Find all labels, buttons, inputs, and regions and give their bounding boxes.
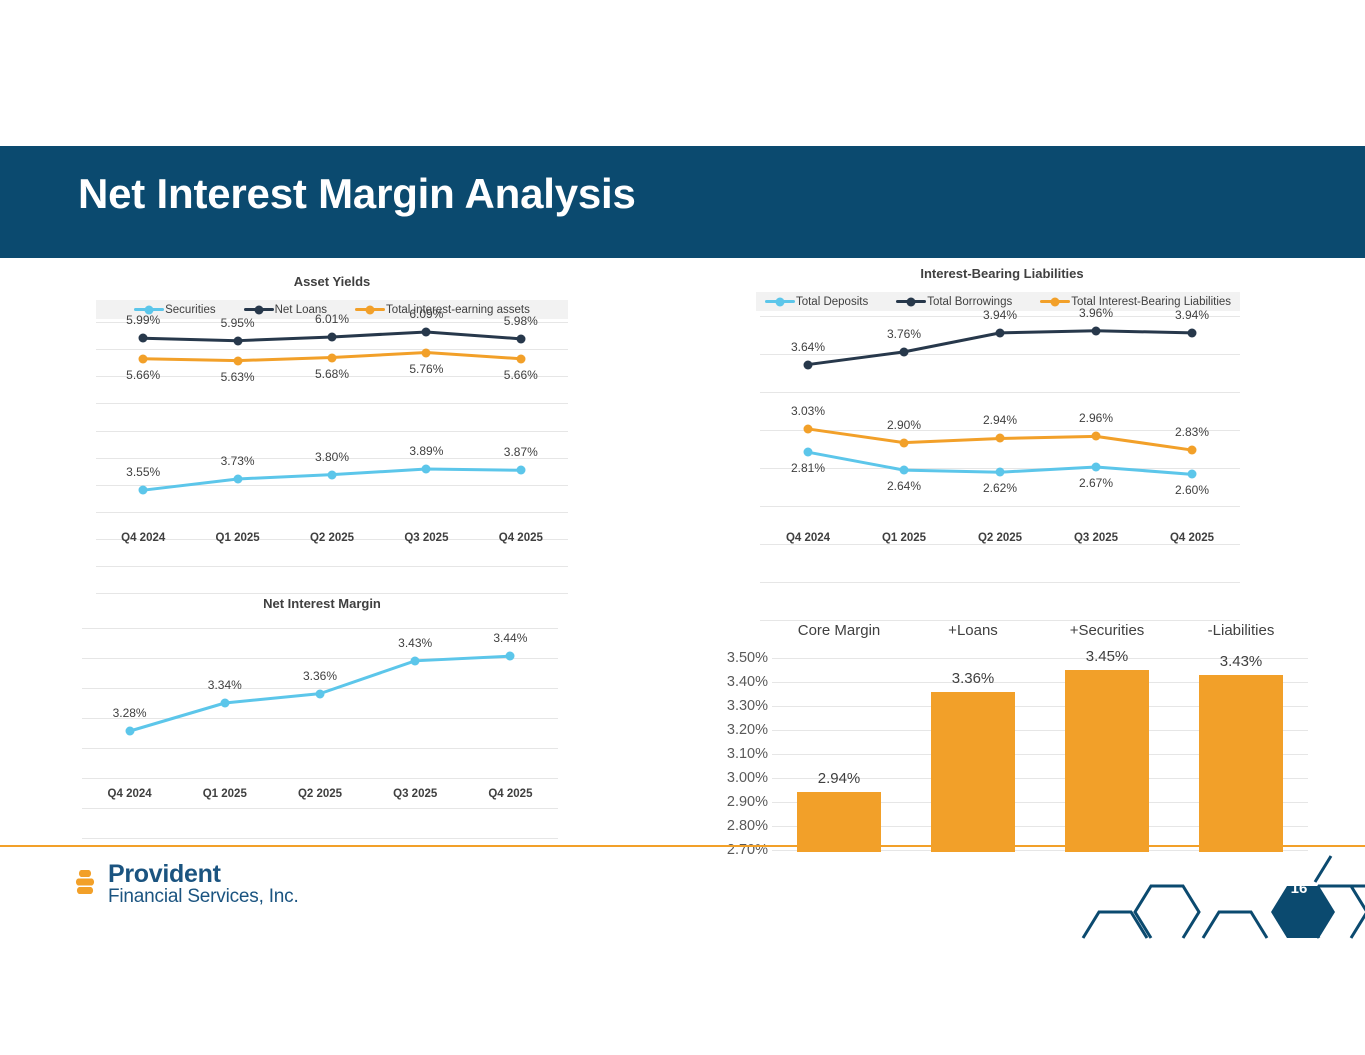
y-axis-tick-label: 3.40% <box>727 674 768 690</box>
category-axis: Q4 2024Q1 2025Q2 2025Q3 2025Q4 2025 <box>82 788 558 800</box>
plot-area: 2.81%2.64%2.62%2.67%2.60%3.64%3.76%3.94%… <box>760 316 1240 506</box>
y-axis-tick-label: 2.90% <box>727 794 768 810</box>
category-tick-label: Q3 2025 <box>379 532 473 544</box>
chart-net-interest-margin: Net Interest Margin 3.28%3.34%3.36%3.43%… <box>72 596 572 816</box>
data-point <box>422 327 431 336</box>
data-point <box>411 656 420 665</box>
bar <box>1065 670 1148 852</box>
data-point <box>125 727 134 736</box>
data-label: 3.87% <box>504 445 538 459</box>
gridline <box>96 566 568 567</box>
data-label: 2.94% <box>983 413 1017 427</box>
data-label: 3.89% <box>409 444 443 458</box>
category-axis: Q4 2024Q1 2025Q2 2025Q3 2025Q4 2025 <box>96 532 568 544</box>
data-point <box>516 466 525 475</box>
data-label: 3.55% <box>126 465 160 479</box>
gridline <box>82 838 558 839</box>
data-point <box>996 328 1005 337</box>
y-axis-tick-label: 2.80% <box>727 818 768 834</box>
data-point <box>996 468 1005 477</box>
data-point <box>1092 462 1101 471</box>
gridline <box>82 808 558 809</box>
category-tick-label: Q4 2024 <box>82 788 177 800</box>
bar-value-label: 3.45% <box>1086 648 1129 665</box>
company-logo: Provident Financial Services, Inc. <box>68 860 328 920</box>
category-tick-label: Q4 2025 <box>474 532 568 544</box>
page-number: 16 <box>1268 858 1330 918</box>
series-lines <box>96 322 568 512</box>
category-tick-label: Q4 2025 <box>1144 532 1240 544</box>
category-tick-label: Q1 2025 <box>190 532 284 544</box>
bar-category-label: +Securities <box>1070 622 1145 639</box>
data-label: 6.09% <box>409 307 443 321</box>
chart-title: Interest-Bearing Liabilities <box>752 266 1252 281</box>
data-label: 3.28% <box>113 706 147 720</box>
data-point <box>900 347 909 356</box>
data-point <box>516 354 525 363</box>
bar-category-label: Core Margin <box>798 622 881 639</box>
data-point <box>139 354 148 363</box>
data-point <box>422 465 431 474</box>
data-point <box>516 334 525 343</box>
series-lines <box>760 316 1240 506</box>
data-label: 2.62% <box>983 481 1017 495</box>
data-point <box>900 438 909 447</box>
data-label: 5.63% <box>221 370 255 384</box>
data-label: 2.60% <box>1175 483 1209 497</box>
legend-item[interactable]: Total Interest-Bearing Liabilities <box>1040 296 1231 308</box>
data-point <box>139 334 148 343</box>
page-title: Net Interest Margin Analysis <box>78 170 636 218</box>
gridline <box>760 582 1240 583</box>
data-point <box>1188 328 1197 337</box>
data-point <box>422 348 431 357</box>
legend-swatch-icon <box>355 308 385 311</box>
y-axis-tick-label: 3.00% <box>727 770 768 786</box>
data-point <box>233 474 242 483</box>
legend-swatch-icon <box>765 300 795 303</box>
legend-swatch-icon <box>244 308 274 311</box>
data-point <box>316 689 325 698</box>
legend-swatch-icon <box>1040 300 1070 303</box>
data-label: 5.76% <box>409 362 443 376</box>
category-tick-label: Q3 2025 <box>1048 532 1144 544</box>
chart-asset-yields: Asset Yields SecuritiesNet LoansTotal in… <box>82 274 582 554</box>
gridline <box>82 778 558 779</box>
data-point <box>804 360 813 369</box>
data-point <box>220 699 229 708</box>
data-point <box>1188 446 1197 455</box>
data-label: 3.64% <box>791 340 825 354</box>
data-label: 3.03% <box>791 404 825 418</box>
category-tick-label: Q4 2024 <box>760 532 856 544</box>
data-label: 3.96% <box>1079 306 1113 320</box>
legend-swatch-icon <box>896 300 926 303</box>
bar <box>1199 675 1282 852</box>
data-point <box>804 448 813 457</box>
plot-area: 3.50%3.40%3.30%3.20%3.10%3.00%2.90%2.80%… <box>706 620 1316 850</box>
chart-title: Asset Yields <box>82 274 582 289</box>
data-point <box>233 356 242 365</box>
legend-item[interactable]: Total Borrowings <box>896 296 1012 308</box>
data-label: 3.80% <box>315 450 349 464</box>
data-label: 3.36% <box>303 669 337 683</box>
category-tick-label: Q2 2025 <box>272 788 367 800</box>
bar-value-label: 3.36% <box>952 670 995 687</box>
bar-value-label: 2.94% <box>818 770 861 787</box>
chart-margin-bridge: 3.50%3.40%3.30%3.20%3.10%3.00%2.90%2.80%… <box>706 620 1316 850</box>
chart-interest-bearing-liabilities: Interest-Bearing Liabilities Total Depos… <box>752 266 1252 556</box>
data-label: 2.81% <box>791 461 825 475</box>
y-axis-tick-label: 3.20% <box>727 722 768 738</box>
gridline <box>760 506 1240 507</box>
plot-area: 3.55%3.73%3.80%3.89%3.87%5.99%5.95%6.01%… <box>96 322 568 512</box>
category-tick-label: Q1 2025 <box>856 532 952 544</box>
data-label: 5.95% <box>221 316 255 330</box>
data-label: 3.94% <box>1175 308 1209 322</box>
y-axis-tick-label: 3.50% <box>727 650 768 666</box>
category-tick-label: Q4 2025 <box>463 788 558 800</box>
legend-label: Securities <box>165 304 216 316</box>
gridline <box>96 593 568 594</box>
gridline <box>96 512 568 513</box>
data-point <box>139 486 148 495</box>
data-point <box>996 434 1005 443</box>
category-tick-label: Q2 2025 <box>285 532 379 544</box>
bar-category-label: -Liabilities <box>1208 622 1275 639</box>
y-axis-tick-label: 3.10% <box>727 746 768 762</box>
bar-category-label: +Loans <box>948 622 998 639</box>
y-axis-tick-label: 3.30% <box>727 698 768 714</box>
data-label: 5.98% <box>504 314 538 328</box>
bar-value-label: 3.43% <box>1220 653 1263 670</box>
data-label: 2.90% <box>887 418 921 432</box>
data-label: 3.76% <box>887 327 921 341</box>
series-lines <box>82 628 558 778</box>
logo-company-subtitle: Financial Services, Inc. <box>108 886 299 908</box>
bar <box>931 692 1014 852</box>
data-label: 6.01% <box>315 312 349 326</box>
gridline <box>760 544 1240 545</box>
data-point <box>900 466 909 475</box>
data-label: 2.64% <box>887 479 921 493</box>
data-label: 5.66% <box>504 368 538 382</box>
data-label: 2.67% <box>1079 476 1113 490</box>
data-point <box>1092 432 1101 441</box>
data-label: 3.73% <box>221 454 255 468</box>
data-label: 2.83% <box>1175 425 1209 439</box>
data-point <box>506 652 515 661</box>
data-label: 3.44% <box>493 631 527 645</box>
data-label: 3.94% <box>983 308 1017 322</box>
data-label: 2.96% <box>1079 411 1113 425</box>
slide: Net Interest Margin Analysis Asset Yield… <box>0 0 1365 1055</box>
legend-swatch-icon <box>134 308 164 311</box>
logo-company-name: Provident <box>108 860 221 889</box>
data-point <box>328 353 337 362</box>
data-point <box>233 336 242 345</box>
legend-label: Total Borrowings <box>927 296 1012 308</box>
bar <box>797 792 880 852</box>
plot-area: 3.28%3.34%3.36%3.43%3.44% <box>82 628 558 778</box>
beehive-logo-icon <box>68 866 102 900</box>
category-tick-label: Q4 2024 <box>96 532 190 544</box>
data-label: 3.43% <box>398 636 432 650</box>
data-point <box>328 332 337 341</box>
legend-item[interactable]: Total Deposits <box>765 296 868 308</box>
category-tick-label: Q2 2025 <box>952 532 1048 544</box>
data-label: 3.34% <box>208 678 242 692</box>
chart-title: Net Interest Margin <box>72 596 572 611</box>
data-label: 5.99% <box>126 313 160 327</box>
data-label: 5.66% <box>126 368 160 382</box>
header-band: Net Interest Margin Analysis <box>0 146 1365 258</box>
legend-label: Total Deposits <box>796 296 868 308</box>
data-point <box>1188 470 1197 479</box>
data-point <box>1092 326 1101 335</box>
data-point <box>328 470 337 479</box>
category-tick-label: Q1 2025 <box>177 788 272 800</box>
data-label: 5.68% <box>315 367 349 381</box>
category-axis: Q4 2024Q1 2025Q2 2025Q3 2025Q4 2025 <box>760 532 1240 544</box>
data-point <box>804 424 813 433</box>
category-tick-label: Q3 2025 <box>368 788 463 800</box>
